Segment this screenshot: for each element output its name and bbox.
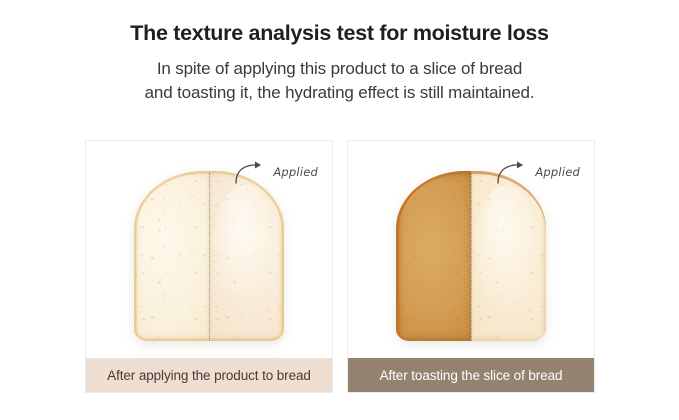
- applied-label: Applied: [273, 165, 318, 179]
- dotted-divider-line: [471, 173, 472, 341]
- curved-arrow-icon: [496, 159, 532, 185]
- bread-half-untreated-toasted: [396, 171, 471, 341]
- panel-caption-after-toasting: After toasting the slice of bread: [348, 358, 594, 392]
- moisture-sheen: [476, 185, 536, 307]
- page-subtitle: In spite of applying this product to a s…: [0, 46, 679, 105]
- bread-photo-toasted: Applied: [348, 141, 594, 360]
- bread-photo-untoasted: Applied: [86, 141, 332, 360]
- page-title: The texture analysis test for moisture l…: [0, 0, 679, 46]
- applied-annotation: Applied: [234, 159, 318, 185]
- dotted-divider-line: [209, 173, 210, 341]
- panel-after-toasting: Applied After toasting the slice of brea…: [347, 140, 595, 393]
- applied-label: Applied: [535, 165, 580, 179]
- bread-half-applied-toasted: [471, 171, 546, 341]
- panel-caption-before-toasting: After applying the product to bread: [86, 358, 332, 392]
- comparison-panels: Applied After applying the product to br…: [0, 140, 679, 396]
- crumb-texture: [396, 171, 471, 341]
- header: The texture analysis test for moisture l…: [0, 0, 679, 105]
- subtitle-line-1: In spite of applying this product to a s…: [0, 57, 679, 81]
- subtitle-line-2: and toasting it, the hydrating effect is…: [0, 81, 679, 105]
- applied-annotation: Applied: [496, 159, 580, 185]
- curved-arrow-icon: [234, 159, 270, 185]
- panel-before-toasting: Applied After applying the product to br…: [85, 140, 333, 393]
- moisture-sheen: [214, 185, 274, 307]
- bread-half-untreated: [134, 171, 209, 341]
- crumb-texture: [134, 171, 209, 341]
- bread-half-applied: [209, 171, 284, 341]
